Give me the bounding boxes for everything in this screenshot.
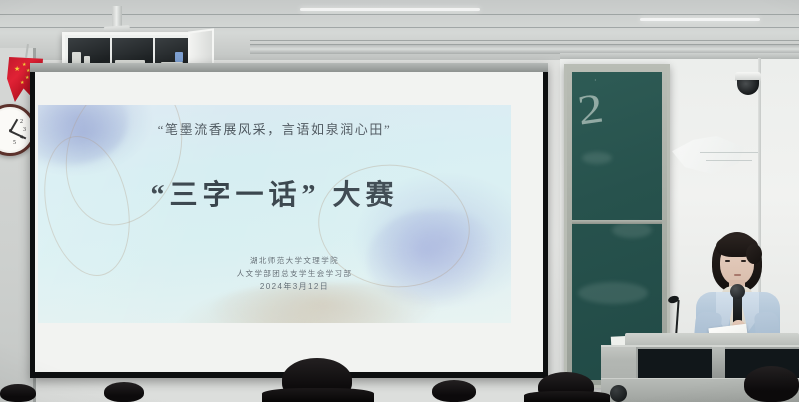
classroom-photo-scene: ★ ★ ★ ★ ★ 2 3 4 5 [0,0,799,402]
chalk-mark: · [594,76,597,85]
ceiling-light [640,18,760,21]
slide-date: 2024年3月12日 [38,281,511,292]
screen-roller-bar [30,63,548,72]
eye [725,260,730,262]
audience-head [744,366,799,402]
ceiling-light [300,8,480,11]
eye [741,260,746,262]
camera-dome-icon [737,80,759,95]
clock-numeral-5: 5 [13,140,16,146]
ceiling-seam [250,40,799,41]
security-camera [733,72,763,98]
chalkboard-divider [572,220,662,224]
clock-numeral-3: 3 [23,127,26,133]
slide-organization-line-1: 湖北师范大学文理学院 [38,255,511,266]
audience-shoulders [524,391,610,402]
hair-bun [746,244,762,264]
flag-star-icon: ★ [25,76,29,81]
microphone-icon [730,284,745,299]
clock-center-pin [9,129,12,132]
wall-tape-edge [700,152,758,153]
chalk-smudge [582,152,612,164]
audience-head [0,384,36,402]
slide-title: “三字一话” 大赛 [38,173,511,213]
chalk-smudge [578,282,648,304]
chalk-smudge [612,222,652,238]
wall-tape-edge [706,160,752,161]
audience-shoulders [262,388,374,402]
mouth [734,274,741,276]
slide-organization-line-2: 人文学部团总支学生会学习部 [38,268,511,279]
audience-head [104,382,144,402]
flag-star-icon: ★ [14,67,20,72]
slide-couplet: “笔墨流香展风采，言语如泉润心田” [38,119,511,138]
presentation-slide: “笔墨流香展风采，言语如泉润心田” “三字一话” 大赛 湖北师范大学文理学院 人… [38,105,511,323]
clock-numeral-2: 2 [20,119,23,125]
booth-equipment [175,52,183,62]
podium-speaker-grille [610,385,627,402]
flag-star-icon: ★ [20,81,24,86]
podium-monitor-divider [712,347,725,380]
chalk-mark: 2 [575,84,607,135]
audience-head [432,380,476,402]
